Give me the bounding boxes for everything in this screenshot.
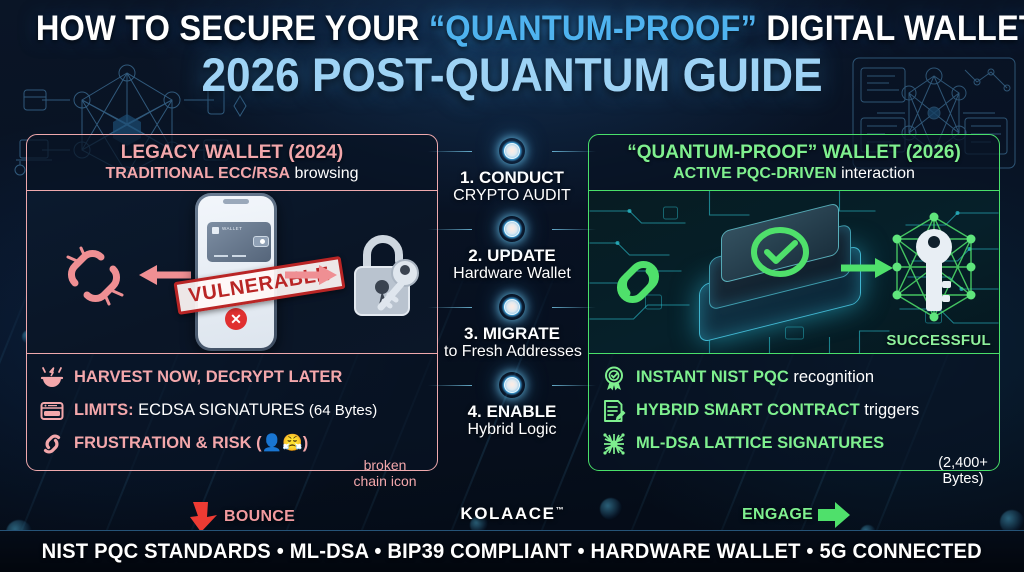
list-item-strong: HARVEST NOW, DECRYPT LATER	[74, 368, 342, 386]
successful-status-label: SUCCESSFUL	[886, 332, 991, 349]
step-title: 2. UPDATE	[444, 247, 580, 265]
step-subtitle: CRYPTO AUDIT	[444, 187, 580, 205]
quantum-subtitle-plain: interaction	[837, 165, 915, 182]
list-item-text: ML-DSA LATTICE SIGNATURES	[636, 435, 884, 452]
list-item-text: INSTANT NIST PQC recognition	[636, 369, 874, 386]
list-item: HARVEST NOW, DECRYPT LATER	[39, 362, 427, 395]
award-rosette-icon	[601, 365, 627, 391]
step-title: 4. ENABLE	[444, 403, 580, 421]
step-node-icon	[444, 370, 580, 400]
legacy-panel-subtitle: TRADITIONAL ECC/RSA browsing	[33, 165, 431, 183]
list-item-text: FRUSTRATION & RISK (👤😤)	[74, 435, 308, 452]
list-item-plain: ECDSA SIGNATURES	[134, 401, 305, 419]
legacy-subtitle-plain: browsing	[290, 165, 358, 182]
legacy-bullet-list: HARVEST NOW, DECRYPT LATER LIMITS: ECDSA…	[26, 353, 438, 471]
list-item-text: HARVEST NOW, DECRYPT LATER	[74, 369, 342, 386]
step-title: 3. MIGRATE	[444, 325, 580, 343]
list-item-close: )	[303, 434, 309, 452]
step-subtitle: Hybrid Logic	[444, 421, 580, 439]
right-arrow-icon	[283, 263, 339, 287]
steps-column: 1. CONDUCT CRYPTO AUDIT 2. UPDATE Hardwa…	[444, 136, 580, 439]
list-item-strong: INSTANT NIST PQC	[636, 368, 789, 386]
list-item-emoji: 👤😤	[262, 434, 303, 452]
list-item: HYBRID SMART CONTRACT triggers	[601, 395, 989, 428]
hardware-ledger-icon	[39, 398, 65, 424]
green-check-icon	[747, 221, 813, 283]
list-item: INSTANT NIST PQC recognition	[601, 362, 989, 395]
quantum-subtitle-strong: ACTIVE PQC-DRIVEN	[673, 165, 837, 182]
legacy-wallet-panel: LEGACY WALLET (2024) TRADITIONAL ECC/RSA…	[26, 134, 438, 471]
list-item-strong: FRUSTRATION & RISK (	[74, 434, 262, 452]
headline-suffix: DIGITAL WALLET	[757, 9, 1024, 48]
step-subtitle: Hardware Wallet	[444, 265, 580, 283]
open-padlock-with-key-icon	[341, 229, 427, 321]
list-item-strong: HYBRID SMART CONTRACT	[636, 401, 860, 419]
infographic-canvas: HOW TO SECURE YOUR “QUANTUM-PROOF” DIGIT…	[0, 0, 1024, 572]
step-node-icon	[444, 214, 580, 244]
footer-text: NIST PQC STANDARDS • ML-DSA • BIP39 COMP…	[42, 540, 982, 564]
quantum-panel-header: “QUANTUM-PROOF” WALLET (2026) ACTIVE PQC…	[588, 134, 1000, 191]
lattice-mesh-icon	[601, 431, 627, 457]
brand-name: KOLAACE	[460, 504, 555, 523]
bytes-annotation: (2,400+ Bytes)	[922, 455, 1004, 487]
list-item-plain: recognition	[789, 368, 874, 386]
list-item-strong: ML-DSA LATTICE SIGNATURES	[636, 434, 884, 452]
legacy-panel-title: LEGACY WALLET (2024)	[33, 143, 431, 163]
broken-chain-annotation: broken chain icon	[336, 458, 434, 489]
list-item-text: HYBRID SMART CONTRACT triggers	[636, 402, 919, 419]
header: HOW TO SECURE YOUR “QUANTUM-PROOF” DIGIT…	[0, 10, 1024, 99]
footer-bar: NIST PQC STANDARDS • ML-DSA • BIP39 COMP…	[0, 530, 1024, 572]
brand-wordmark: KOLAACE™	[0, 504, 1024, 524]
legacy-subtitle-strong: TRADITIONAL ECC/RSA	[105, 165, 290, 182]
wallet-card-label: WALLET	[222, 226, 242, 231]
wallet-card: WALLET	[207, 222, 271, 262]
legacy-panel-header: LEGACY WALLET (2024) TRADITIONAL ECC/RSA…	[26, 134, 438, 191]
red-x-icon: ✕	[225, 308, 247, 330]
quantum-panel-subtitle: ACTIVE PQC-DRIVEN interaction	[595, 165, 993, 183]
quantum-bullet-list: INSTANT NIST PQC recognition HYBRID SMAR…	[588, 353, 1000, 471]
contract-document-icon	[601, 398, 627, 424]
list-item-plain: triggers	[860, 401, 920, 419]
quantum-illustration: SUCCESSFUL	[588, 191, 1000, 353]
step-item: 4. ENABLE Hybrid Logic	[444, 370, 580, 439]
step-item: 1. CONDUCT CRYPTO AUDIT	[444, 136, 580, 205]
harvest-bowl-icon	[39, 365, 65, 391]
quantum-wallet-panel: “QUANTUM-PROOF” WALLET (2026) ACTIVE PQC…	[588, 134, 1000, 471]
list-item-note: (64 Bytes)	[305, 402, 378, 419]
step-item: 2. UPDATE Hardware Wallet	[444, 214, 580, 283]
step-subtitle: to Fresh Addresses	[444, 343, 580, 361]
connected-chain-icon	[605, 249, 671, 315]
chain-link-icon	[39, 431, 65, 457]
quantum-panel-title: “QUANTUM-PROOF” WALLET (2026)	[595, 143, 993, 163]
headline-highlight: “QUANTUM-PROOF”	[429, 9, 757, 48]
headline-primary: HOW TO SECURE YOUR “QUANTUM-PROOF” DIGIT…	[36, 10, 988, 47]
brand-tm: ™	[556, 505, 564, 514]
headline-prefix: HOW TO SECURE YOUR	[36, 9, 429, 48]
list-item: LIMITS: ECDSA SIGNATURES (64 Bytes)	[39, 395, 427, 428]
headline-secondary: 2026 POST-QUANTUM GUIDE	[31, 51, 994, 99]
step-node-icon	[444, 292, 580, 322]
broken-chain-icon	[59, 241, 129, 311]
key-in-lattice-icon	[881, 209, 987, 325]
list-item-text: LIMITS: ECDSA SIGNATURES (64 Bytes)	[74, 402, 377, 419]
legacy-illustration: WALLET ✕ VULNERABLE	[26, 191, 438, 353]
step-item: 3. MIGRATE to Fresh Addresses	[444, 292, 580, 361]
step-title: 1. CONDUCT	[444, 169, 580, 187]
step-node-icon	[444, 136, 580, 166]
list-item: FRUSTRATION & RISK (👤😤)	[39, 428, 427, 461]
list-item-strong: LIMITS:	[74, 401, 134, 419]
